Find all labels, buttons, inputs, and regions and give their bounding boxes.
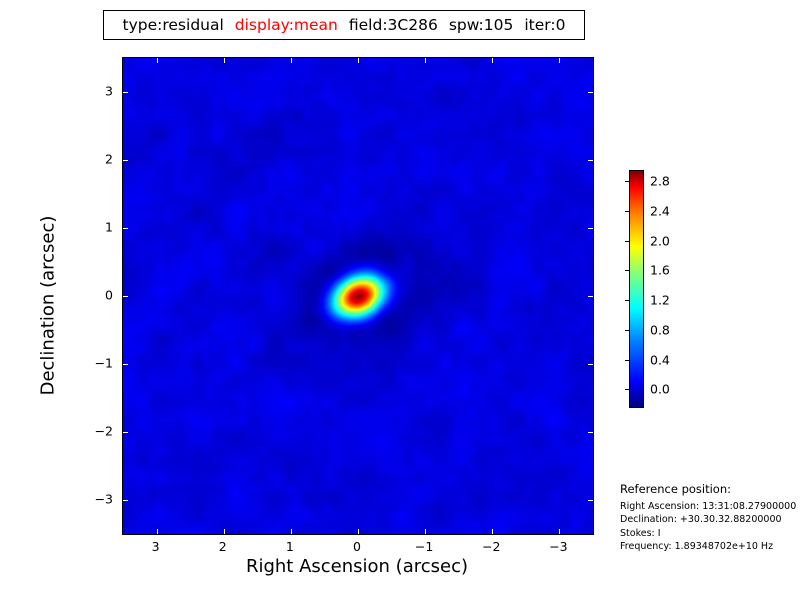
x-tick-mark [157,529,158,534]
colorbar-tick-label: 1.2 [650,293,670,308]
colorbar-tick-mark [625,300,630,301]
x-tick-mark-top [559,58,560,63]
y-tick-mark-right [588,92,593,93]
colorbar-tick-label: 2.8 [650,174,670,189]
y-tick-mark-right [588,500,593,501]
colorbar-tick-mark [625,389,630,390]
y-tick-label: 1 [105,220,113,235]
title-item-type: type:residual [123,16,224,34]
x-tick-label: 1 [286,539,294,554]
y-tick-mark-right [588,432,593,433]
colorbar-tick-label: 0.0 [650,382,670,397]
x-tick-mark-top [492,58,493,63]
colorbar-tick-label: 2.0 [650,233,670,248]
y-tick-mark [123,432,128,433]
x-tick-mark [425,529,426,534]
y-tick-mark-right [588,228,593,229]
x-tick-mark [224,529,225,534]
colorbar-tick-label: 2.4 [650,203,670,218]
colorbar-tick-mark [625,270,630,271]
reference-frequency: Frequency: 1.89348702e+10 Hz [620,540,800,553]
colorbar-gradient[interactable] [629,170,644,408]
title-item-field: field:3C286 [349,16,438,34]
y-tick-label: −1 [95,356,113,371]
x-tick-label: −3 [549,539,567,554]
x-tick-mark-top [425,58,426,63]
image-info-title-bar: type:residual display:mean field:3C286 s… [103,10,585,40]
reference-stokes: Stokes: I [620,527,800,540]
title-item-iter: iter:0 [524,16,565,34]
x-tick-label: 0 [353,539,361,554]
y-tick-mark [123,296,128,297]
colorbar-tick-mark [625,241,630,242]
x-tick-mark [358,529,359,534]
reference-position-block: Reference position: Right Ascension: 13:… [620,482,800,554]
residual-image-canvas[interactable] [123,58,593,534]
colorbar-container[interactable]: 0.00.40.81.21.62.02.42.8 [629,170,644,408]
y-tick-mark [123,92,128,93]
x-tick-mark-top [224,58,225,63]
x-tick-mark [559,529,560,534]
y-tick-mark [123,364,128,365]
y-tick-label: 3 [105,84,113,99]
x-tick-mark [492,529,493,534]
reference-declination: Declination: +30.30.32.88200000 [620,513,800,526]
colorbar-tick-mark [625,360,630,361]
x-tick-label: 2 [219,539,227,554]
x-tick-label: −1 [415,539,433,554]
y-tick-mark-right [588,296,593,297]
x-tick-mark-top [291,58,292,63]
colorbar-tick-mark [625,330,630,331]
y-tick-mark [123,228,128,229]
y-tick-mark-right [588,364,593,365]
x-tick-mark [291,529,292,534]
x-tick-label: −2 [482,539,500,554]
y-tick-label: 2 [105,152,113,167]
title-item-spw: spw:105 [449,16,514,34]
y-tick-label: −2 [95,424,113,439]
colorbar-tick-label: 0.4 [650,352,670,367]
colorbar-tick-label: 0.8 [650,322,670,337]
colorbar-tick-label: 1.6 [650,263,670,278]
y-tick-mark-right [588,160,593,161]
y-tick-mark [123,500,128,501]
x-tick-label: 3 [152,539,160,554]
x-tick-mark-top [157,58,158,63]
colorbar-tick-mark [625,211,630,212]
residual-image-plot[interactable] [122,57,594,535]
title-item-display: display:mean [235,16,338,34]
y-axis-label: Declination (arcsec) [38,196,59,416]
y-tick-mark [123,160,128,161]
reference-position-heading: Reference position: [620,482,800,496]
y-tick-label: 0 [105,288,113,303]
y-tick-label: −3 [95,492,113,507]
x-tick-mark-top [358,58,359,63]
x-axis-label: Right Ascension (arcsec) [122,556,592,577]
colorbar-tick-mark [625,181,630,182]
reference-right-ascension: Right Ascension: 13:31:08.27900000 [620,500,800,513]
